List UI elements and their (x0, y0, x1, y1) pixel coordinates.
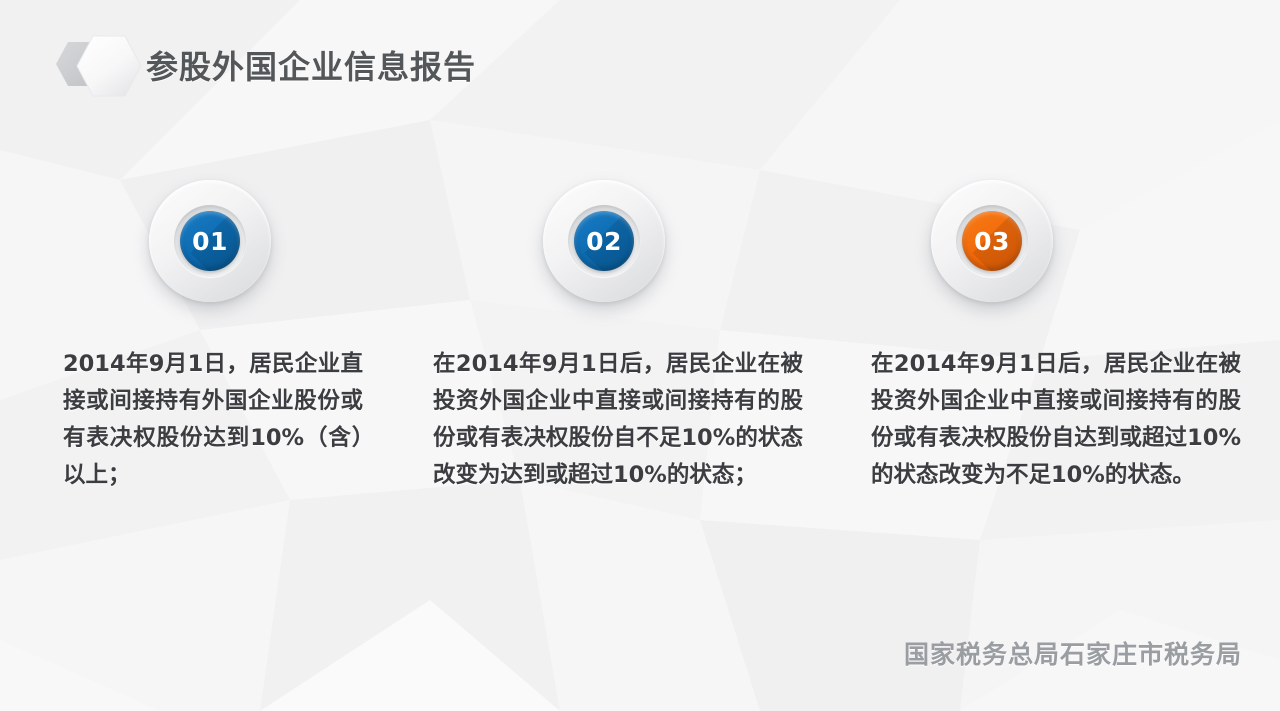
presentation-slide: 参股外国企业信息报告 01 2014年9月1日，居民企业直接或间接持有外国企业股… (0, 0, 1280, 711)
footer-organization: 国家税务总局石家庄市税务局 (904, 635, 1242, 671)
badge-core: 03 (962, 211, 1022, 271)
step-description: 在2014年9月1日后，居民企业在被投资外国企业中直接或间接持有的股份或有表决权… (433, 346, 803, 494)
steps-container: 01 2014年9月1日，居民企业直接或间接持有外国企业股份或有表决权股份达到1… (0, 0, 1280, 711)
step-badge-03: 03 (931, 180, 1053, 302)
step-number: 01 (192, 229, 228, 254)
step-item: 01 2014年9月1日，居民企业直接或间接持有外国企业股份或有表决权股份达到1… (63, 180, 363, 494)
badge-core: 02 (574, 211, 634, 271)
step-badge-01: 01 (149, 180, 271, 302)
step-badge-02: 02 (543, 180, 665, 302)
step-description: 在2014年9月1日后，居民企业在被投资外国企业中直接或间接持有的股份或有表决权… (871, 346, 1241, 494)
step-number: 03 (974, 229, 1010, 254)
step-description: 2014年9月1日，居民企业直接或间接持有外国企业股份或有表决权股份达到10%（… (63, 346, 363, 494)
step-number: 02 (586, 229, 622, 254)
badge-core: 01 (180, 211, 240, 271)
step-item: 02 在2014年9月1日后，居民企业在被投资外国企业中直接或间接持有的股份或有… (433, 180, 803, 494)
step-item: 03 在2014年9月1日后，居民企业在被投资外国企业中直接或间接持有的股份或有… (871, 180, 1241, 494)
